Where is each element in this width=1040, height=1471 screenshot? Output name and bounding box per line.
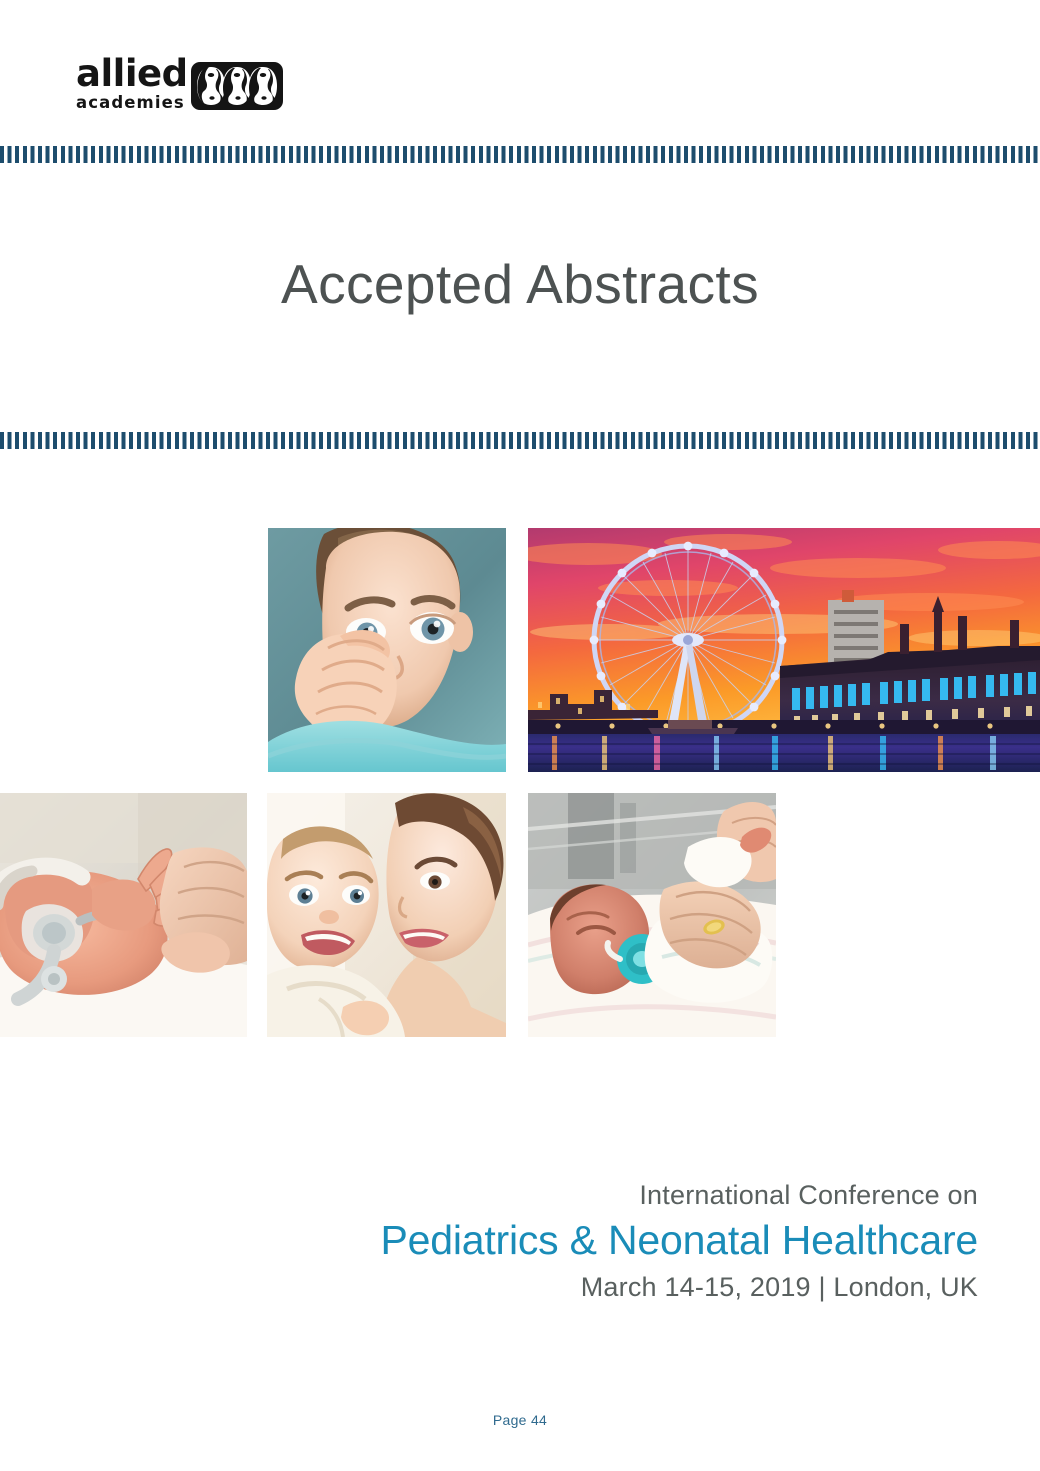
neonate-cpap-photo [0,793,247,1037]
divider-rule-top [0,146,1040,163]
logo-secondary-text: academies [76,95,188,112]
conference-identity: International Conference on Pediatrics &… [380,1180,978,1303]
conference-prefix: International Conference on [380,1180,978,1211]
newborn-pacifier-photo [528,793,776,1037]
mother-and-baby-photo [267,793,506,1037]
allied-academies-logo: allied academies [76,55,283,111]
conference-date-location: March 14-15, 2019 | London, UK [380,1272,978,1303]
logo-primary-text: allied [76,56,188,92]
document-page: allied academies [0,0,1040,1471]
conference-title: Pediatrics & Neonatal Healthcare [380,1215,978,1266]
page-title: Accepted Abstracts [0,252,1040,316]
page-number-footer: Page 44 [0,1412,1040,1428]
divider-rule-bottom [0,432,1040,449]
baby-rubbing-eye-photo [268,528,506,772]
logo-wordmark: allied academies [76,56,188,111]
world-map-icon [191,62,283,110]
london-eye-sunset-photo [528,528,1040,772]
